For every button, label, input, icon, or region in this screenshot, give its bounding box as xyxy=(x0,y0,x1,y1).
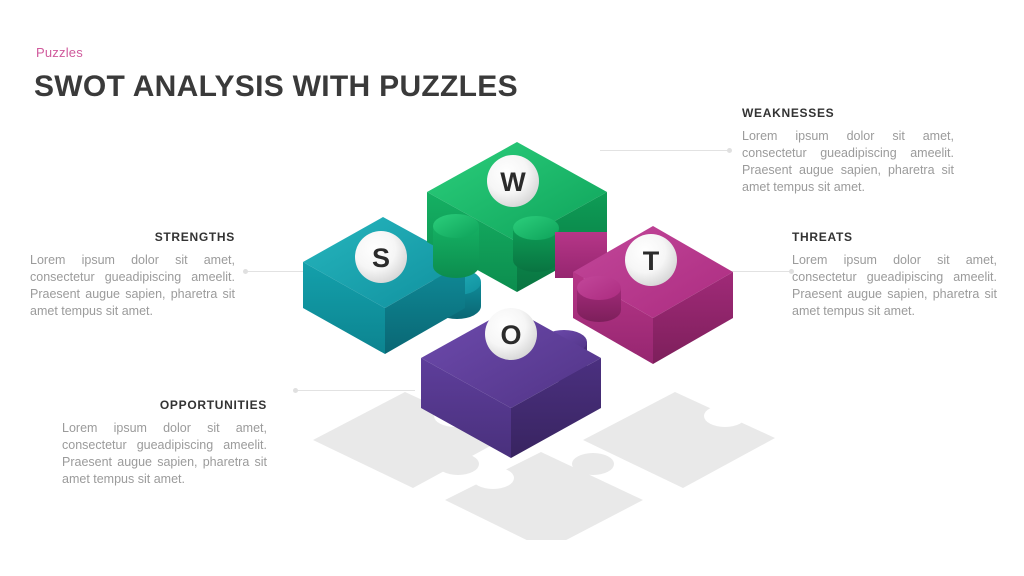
block-body-threats: Lorem ipsum dolor sit amet, consectetur … xyxy=(792,252,997,320)
block-heading-strengths: STRENGTHS xyxy=(30,230,235,244)
text-block-strengths: STRENGTHS Lorem ipsum dolor sit amet, co… xyxy=(30,230,235,320)
letter-badge-opportunities: O xyxy=(485,308,537,360)
eyebrow-label: Puzzles xyxy=(36,45,83,60)
letter-weaknesses: W xyxy=(500,167,526,197)
block-body-strengths: Lorem ipsum dolor sit amet, consectetur … xyxy=(30,252,235,320)
letter-badge-weaknesses: W xyxy=(487,155,539,207)
knob-weaknesses-left xyxy=(433,214,479,278)
block-body-opportunities: Lorem ipsum dolor sit amet, consectetur … xyxy=(62,420,267,488)
page-title: SWOT ANALYSIS WITH PUZZLES xyxy=(34,70,518,104)
block-heading-threats: THREATS xyxy=(792,230,997,244)
block-heading-opportunities: OPPORTUNITIES xyxy=(62,398,267,412)
shadow-piece-right xyxy=(572,392,775,488)
slide-canvas: Puzzles SWOT ANALYSIS WITH PUZZLES WEAKN… xyxy=(0,0,1024,576)
letter-badge-threats: T xyxy=(625,234,677,286)
letter-threats: T xyxy=(643,246,660,276)
letter-badge-strengths: S xyxy=(355,231,407,283)
knob-weaknesses-right xyxy=(513,216,559,272)
text-block-threats: THREATS Lorem ipsum dolor sit amet, cons… xyxy=(792,230,997,320)
swot-puzzle-diagram: S xyxy=(255,120,775,540)
block-heading-weaknesses: WEAKNESSES xyxy=(742,106,954,120)
text-block-opportunities: OPPORTUNITIES Lorem ipsum dolor sit amet… xyxy=(62,398,267,488)
connector-dot-strengths xyxy=(243,269,248,274)
letter-strengths: S xyxy=(372,243,390,273)
knob-threats-inner xyxy=(577,276,621,322)
letter-opportunities: O xyxy=(500,320,521,350)
